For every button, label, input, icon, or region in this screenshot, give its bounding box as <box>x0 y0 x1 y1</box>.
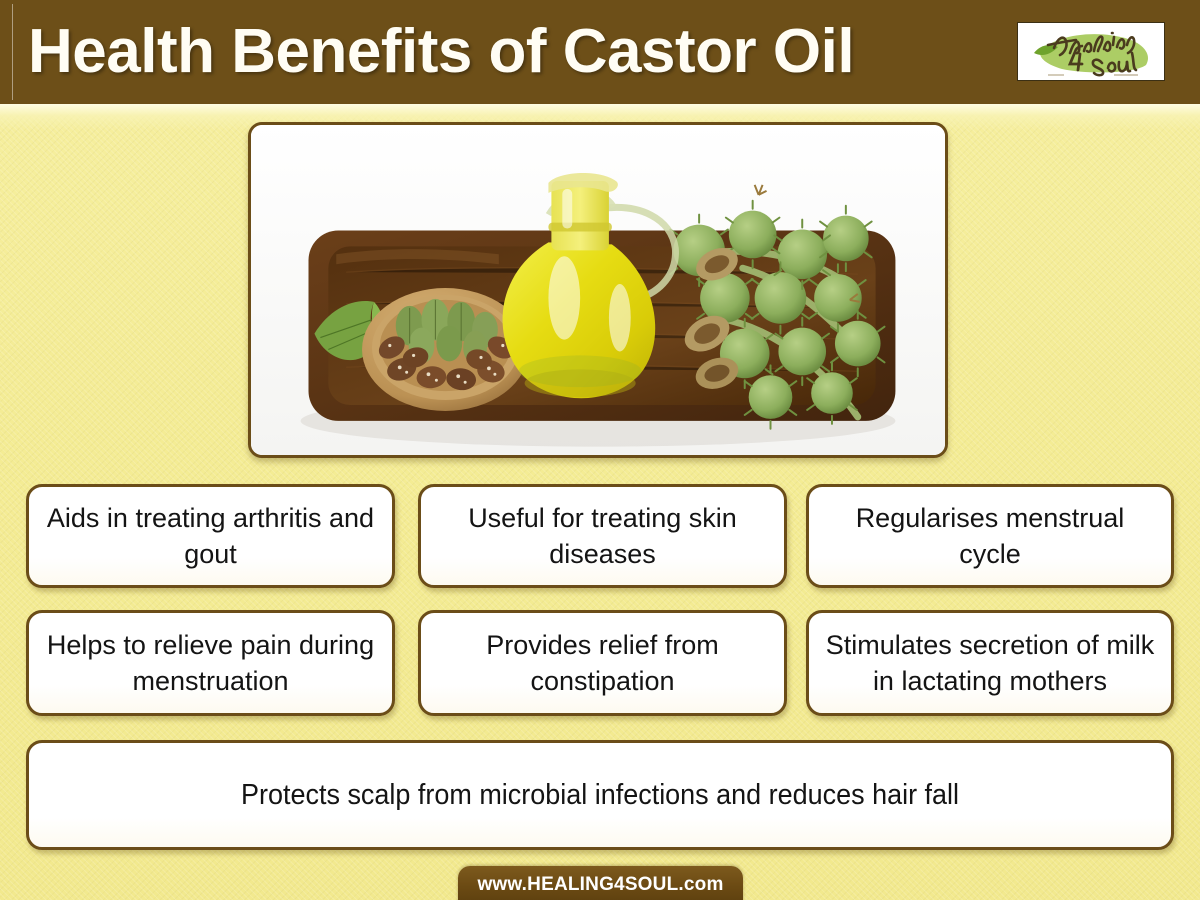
castor-oil-tray-photo <box>248 122 948 458</box>
benefit-box-scalp-hair-fall[interactable]: Protects scalp from microbial infections… <box>26 740 1174 850</box>
page-title: Health Benefits of Castor Oil <box>28 12 854 92</box>
benefit-box-constipation-relief[interactable]: Provides relief from constipation <box>418 610 787 716</box>
benefit-box-lactation-milk[interactable]: Stimulates secretion of milk in lactatin… <box>806 610 1174 716</box>
benefit-box-menstruation-pain[interactable]: Helps to relieve pain during menstruatio… <box>26 610 395 716</box>
benefit-box-menstrual-cycle[interactable]: Regularises menstrual cycle <box>806 484 1174 588</box>
benefit-text: Helps to relieve pain during menstruatio… <box>43 627 378 699</box>
benefit-text: Regularises menstrual cycle <box>823 500 1157 572</box>
benefit-text: Useful for treating skin diseases <box>435 500 770 572</box>
benefit-text: Aids in treating arthritis and gout <box>43 500 378 572</box>
benefit-box-skin-diseases[interactable]: Useful for treating skin diseases <box>418 484 787 588</box>
logo-artwork <box>1018 23 1164 80</box>
benefit-text: Stimulates secretion of milk in lactatin… <box>823 627 1157 699</box>
benefit-box-arthritis-gout[interactable]: Aids in treating arthritis and gout <box>26 484 395 588</box>
footer-website-badge[interactable]: www.HEALING4SOUL.com <box>458 866 743 900</box>
benefit-text: Protects scalp from microbial infections… <box>241 776 959 814</box>
benefit-text: Provides relief from constipation <box>435 627 770 699</box>
castor-oil-illustration <box>251 125 945 455</box>
footer-website-url: www.HEALING4SOUL.com <box>477 874 723 896</box>
healing-4-soul-logo[interactable] <box>1017 22 1165 81</box>
infographic-poster: Health Benefits of Castor Oil <box>0 0 1200 900</box>
